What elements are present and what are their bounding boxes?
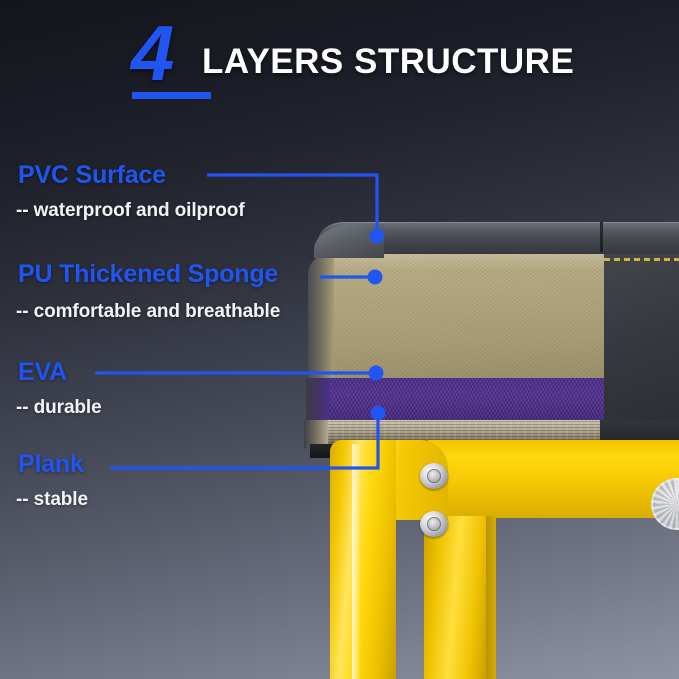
annotation-title-pu: PU Thickened Sponge xyxy=(18,262,278,287)
annotation-subtitle-plank: -- stable xyxy=(16,490,88,509)
leader-marker-eva xyxy=(369,366,384,381)
annotation-subtitle-pu: -- comfortable and breathable xyxy=(16,302,280,321)
annotation-title-eva: EVA xyxy=(18,360,67,385)
title-underline xyxy=(132,92,211,99)
leader-marker-pu xyxy=(368,270,383,285)
annotation-title-plank: Plank xyxy=(18,452,84,477)
promo-infographic: 4 LAYERS STRUCTURE PVC Surface -- waterp… xyxy=(0,0,679,679)
leader-marker-pvc xyxy=(370,229,385,244)
annotation-title-pvc: PVC Surface xyxy=(18,163,166,188)
annotation-subtitle-pvc: -- waterproof and oilproof xyxy=(16,201,245,220)
header: 4 LAYERS STRUCTURE xyxy=(0,0,679,120)
page-title: LAYERS STRUCTURE xyxy=(202,44,574,79)
leader-line-plank xyxy=(110,413,378,468)
layer-count-number: 4 xyxy=(131,14,171,92)
leader-marker-plank xyxy=(371,406,386,421)
annotation-subtitle-eva: -- durable xyxy=(16,398,102,417)
